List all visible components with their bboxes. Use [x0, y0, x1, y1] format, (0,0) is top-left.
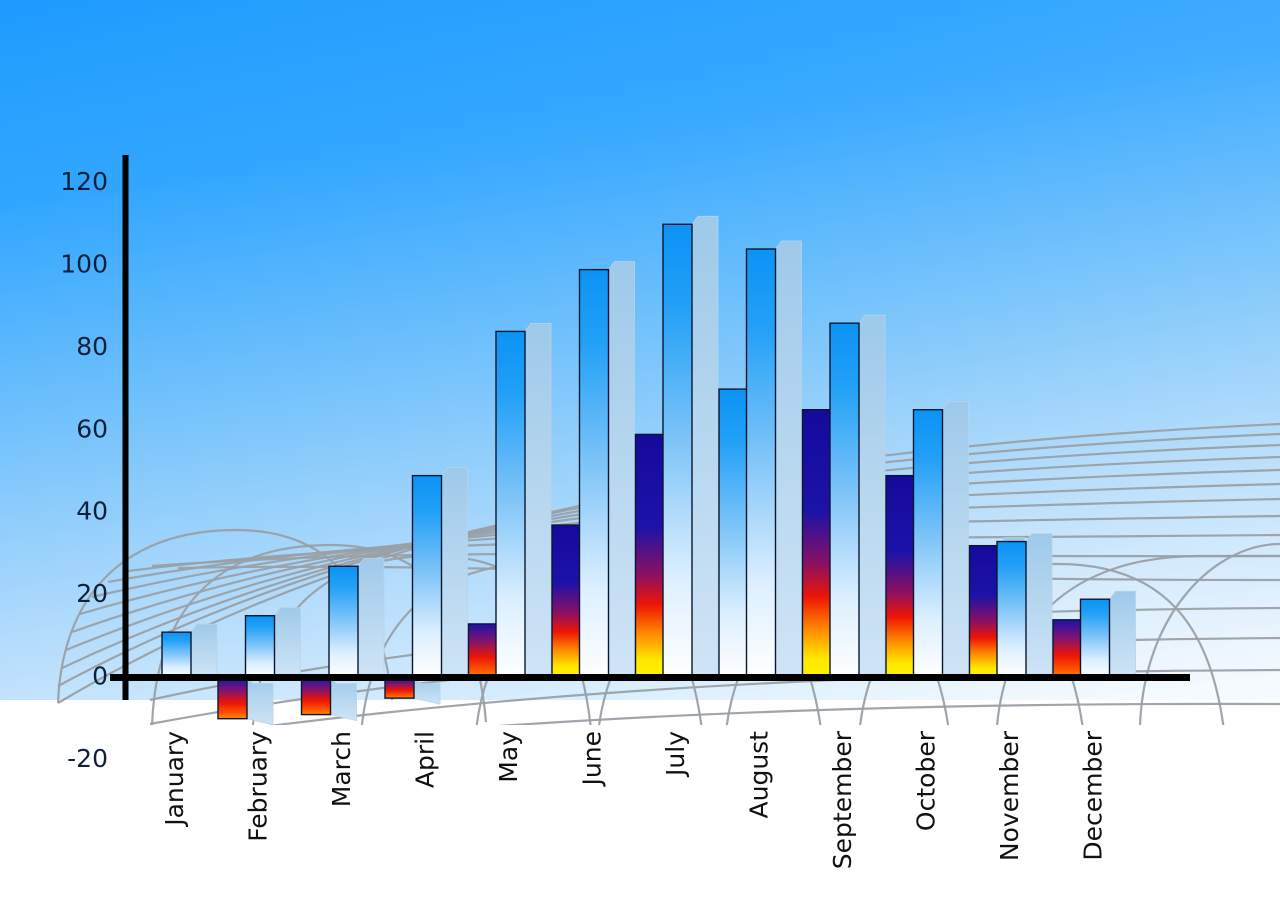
- bar-may-series1[interactable]: [496, 323, 551, 677]
- bar-3d-side: [776, 241, 802, 677]
- x-tick-february: February: [244, 731, 273, 842]
- y-tick-40: 40: [76, 497, 108, 526]
- bar-face[interactable]: [302, 678, 331, 715]
- bar-face[interactable]: [329, 566, 358, 677]
- y-tick-20: 20: [76, 579, 108, 608]
- y-tick-0: 0: [92, 662, 108, 691]
- bar-face[interactable]: [970, 546, 999, 678]
- bar-july-series1[interactable]: [663, 216, 718, 677]
- bar-face[interactable]: [997, 542, 1026, 678]
- bar-face[interactable]: [886, 476, 915, 678]
- bar-3d-side: [275, 608, 301, 678]
- bar-face[interactable]: [469, 624, 498, 678]
- bar-face[interactable]: [162, 632, 191, 677]
- x-tick-march: March: [327, 731, 356, 807]
- bar-3d-side: [191, 624, 217, 677]
- x-tick-july: July: [661, 731, 690, 778]
- y-tick-120: 120: [60, 167, 108, 196]
- bar-3d-side: [609, 262, 635, 678]
- x-tick-june: June: [578, 731, 607, 787]
- bar-face[interactable]: [1081, 599, 1110, 677]
- bar-january-series2[interactable]: [218, 678, 273, 725]
- bar-3d-side: [859, 315, 885, 677]
- bar-face[interactable]: [803, 410, 832, 678]
- bar-3d-side: [331, 678, 357, 721]
- bar-face[interactable]: [663, 224, 692, 677]
- bar-3d-side: [525, 323, 551, 677]
- bar-3d-side: [1110, 591, 1136, 677]
- bar-february-series1[interactable]: [246, 608, 301, 678]
- bar-face[interactable]: [747, 249, 776, 677]
- bar-face[interactable]: [413, 476, 442, 678]
- x-tick-january: January: [160, 731, 189, 828]
- bar-3d-side: [442, 468, 468, 678]
- x-tick-november: November: [995, 730, 1024, 861]
- bar-december-series1[interactable]: [1081, 591, 1136, 677]
- chart-canvas: -20020406080100120 JanuaryFebruaryMarchA…: [0, 0, 1280, 905]
- x-tick-october: October: [912, 730, 941, 831]
- x-tick-september: September: [828, 730, 857, 869]
- bar-january-series1[interactable]: [162, 624, 217, 677]
- bar-chart-plot: -20020406080100120 JanuaryFebruaryMarchA…: [0, 0, 1280, 905]
- x-axis-tick-labels: JanuaryFebruaryMarchAprilMayJuneJulyAugu…: [160, 730, 1108, 869]
- y-tick-80: 80: [76, 332, 108, 361]
- x-tick-april: April: [411, 731, 440, 788]
- bar-september-series1[interactable]: [830, 315, 885, 677]
- bar-face[interactable]: [580, 270, 609, 678]
- bar-march-series1[interactable]: [329, 558, 384, 677]
- y-tick-60: 60: [76, 414, 108, 443]
- bar-october-series1[interactable]: [914, 402, 969, 678]
- bar-face[interactable]: [830, 323, 859, 677]
- bar-face[interactable]: [719, 389, 748, 677]
- bar-august-series1[interactable]: [747, 241, 802, 677]
- bar-3d-side: [692, 216, 718, 677]
- bar-april-series1[interactable]: [413, 468, 468, 678]
- bar-face[interactable]: [218, 678, 247, 719]
- bar-3d-side: [1026, 534, 1052, 678]
- bar-face[interactable]: [1053, 620, 1082, 678]
- bar-3d-side: [358, 558, 384, 677]
- x-tick-december: December: [1079, 730, 1108, 860]
- bar-face[interactable]: [496, 331, 525, 677]
- bar-february-series2[interactable]: [302, 678, 357, 721]
- x-tick-may: May: [494, 731, 523, 783]
- bar-face[interactable]: [552, 525, 581, 677]
- bar-face[interactable]: [246, 616, 275, 678]
- bar-3d-side: [247, 678, 273, 725]
- y-tick-neg20: -20: [67, 744, 108, 773]
- bar-face[interactable]: [914, 410, 943, 678]
- bar-june-series1[interactable]: [580, 262, 635, 678]
- y-tick-100: 100: [60, 250, 108, 279]
- bar-3d-side: [943, 402, 969, 678]
- bar-face[interactable]: [636, 434, 665, 677]
- x-tick-august: August: [745, 731, 774, 819]
- bar-november-series1[interactable]: [997, 534, 1052, 678]
